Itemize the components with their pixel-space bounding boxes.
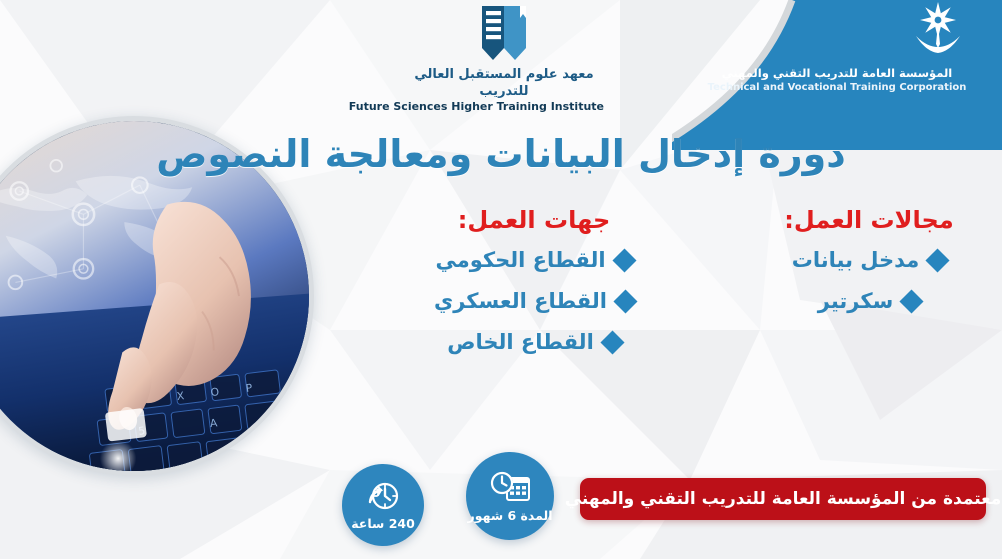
list-item-label: القطاع الخاص [447, 330, 594, 354]
hours-badge-label: 240 ساعة [351, 516, 415, 531]
duration-badge: المدة 6 شهور [466, 452, 554, 540]
palm-star-emblem-icon [906, 0, 970, 56]
employers-column: جهات العمل: القطاع الحكومي القطاع العسكر… [384, 206, 684, 371]
list-item: القطاع الخاص [384, 330, 684, 354]
svg-text:O: O [210, 385, 220, 399]
list-item: مدخل بيانات [754, 248, 984, 272]
list-item: سكرتير [754, 289, 984, 313]
tvtc-header-panel: المؤسسة العامة للتدريب التقني والمهني Te… [672, 0, 1002, 150]
institute-name-ar: معهد علوم المستقبل العالي للتدريب [404, 66, 604, 100]
accreditation-text: معتمدة من المؤسسة العامة للتدريب التقني … [565, 489, 1002, 509]
list-item-label: سكرتير [818, 289, 893, 313]
tvtc-name-ar: المؤسسة العامة للتدريب التقني والمهني [672, 66, 1002, 81]
institute-logo-block: معهد علوم المستقبل العالي للتدريب Future… [404, 4, 604, 114]
list-item-label: القطاع الحكومي [435, 248, 605, 272]
diamond-bullet-icon [612, 248, 636, 272]
institute-name-en: Future Sciences Higher Training Institut… [404, 100, 604, 114]
diamond-bullet-icon [926, 248, 950, 272]
diamond-bullet-icon [900, 289, 924, 313]
clock-icon [366, 480, 400, 514]
list-item: القطاع العسكري [384, 289, 684, 313]
course-poster: المؤسسة العامة للتدريب التقني والمهني Te… [0, 0, 1002, 559]
tvtc-name-en: Technical and Vocational Training Corpor… [672, 81, 1002, 94]
list-item-label: القطاع العسكري [434, 289, 607, 313]
diamond-bullet-icon [600, 330, 624, 354]
shield-bookmark-icon [476, 4, 532, 64]
list-item-label: مدخل بيانات [792, 248, 920, 272]
calendar-clock-icon [489, 470, 531, 506]
duration-badge-label: المدة 6 شهور [468, 508, 553, 523]
accreditation-banner: معتمدة من المؤسسة العامة للتدريب التقني … [580, 478, 986, 520]
employers-heading: جهات العمل: [384, 206, 684, 234]
hours-badge: 240 ساعة [342, 464, 424, 546]
tvtc-name-block: المؤسسة العامة للتدريب التقني والمهني Te… [672, 66, 1002, 94]
fields-of-work-heading: مجالات العمل: [754, 206, 984, 234]
diamond-bullet-icon [613, 289, 637, 313]
course-title: دورة إدخال البيانات ومعالجة النصوص [0, 132, 1002, 176]
list-item: القطاع الحكومي [384, 248, 684, 272]
svg-text:X: X [176, 389, 185, 403]
fields-of-work-column: مجالات العمل: مدخل بيانات سكرتير [754, 206, 984, 330]
